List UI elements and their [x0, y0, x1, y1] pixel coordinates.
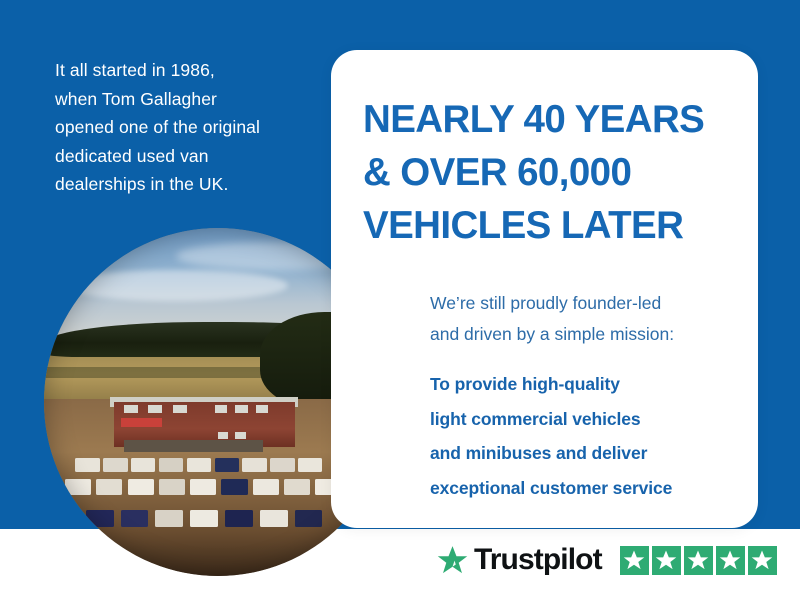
- mission-line-4: exceptional customer service: [430, 471, 742, 506]
- trustpilot-star-icon: [437, 545, 468, 576]
- trustpilot-star-5[interactable]: [748, 546, 777, 575]
- trustpilot-star-1[interactable]: [620, 546, 649, 575]
- star-icon: [687, 549, 709, 571]
- mission-statement: To provide high-quality light commercial…: [430, 367, 742, 505]
- headline-line-1: NEARLY 40 YEARS: [363, 93, 735, 146]
- subcopy-line-2: and driven by a simple mission:: [430, 319, 730, 350]
- subcopy-line-1: We’re still proudly founder-led: [430, 288, 730, 319]
- trustpilot-star-2[interactable]: [652, 546, 681, 575]
- trustpilot-logo[interactable]: Trustpilot: [437, 545, 602, 576]
- star-icon: [655, 549, 677, 571]
- intro-line-4: dedicated used van: [55, 142, 320, 171]
- trustpilot-wordmark: Trustpilot: [474, 545, 602, 575]
- trustpilot-star-3[interactable]: [684, 546, 713, 575]
- mission-line-1: To provide high-quality: [430, 367, 742, 402]
- star-icon: [623, 549, 645, 571]
- headline-line-3: VEHICLES LATER: [363, 199, 735, 252]
- trustpilot-star-4[interactable]: [716, 546, 745, 575]
- star-icon: [751, 549, 773, 571]
- intro-line-3: opened one of the original: [55, 113, 320, 142]
- headline-line-2: & OVER 60,000: [363, 146, 735, 199]
- content-card: NEARLY 40 YEARS & OVER 60,000 VEHICLES L…: [331, 50, 758, 528]
- headline: NEARLY 40 YEARS & OVER 60,000 VEHICLES L…: [363, 93, 735, 252]
- trustpilot-star-rating[interactable]: [620, 546, 777, 575]
- intro-line-2: when Tom Gallagher: [55, 85, 320, 114]
- intro-line-1: It all started in 1986,: [55, 56, 320, 85]
- subcopy-paragraph: We’re still proudly founder-led and driv…: [430, 288, 730, 350]
- intro-paragraph: It all started in 1986, when Tom Gallagh…: [55, 56, 320, 199]
- promo-banner: It all started in 1986, when Tom Gallagh…: [0, 0, 800, 600]
- mission-line-3: and minibuses and deliver: [430, 436, 742, 471]
- star-icon: [719, 549, 741, 571]
- trustpilot-rating[interactable]: Trustpilot: [437, 537, 777, 583]
- mission-line-2: light commercial vehicles: [430, 402, 742, 437]
- intro-line-5: dealerships in the UK.: [55, 170, 320, 199]
